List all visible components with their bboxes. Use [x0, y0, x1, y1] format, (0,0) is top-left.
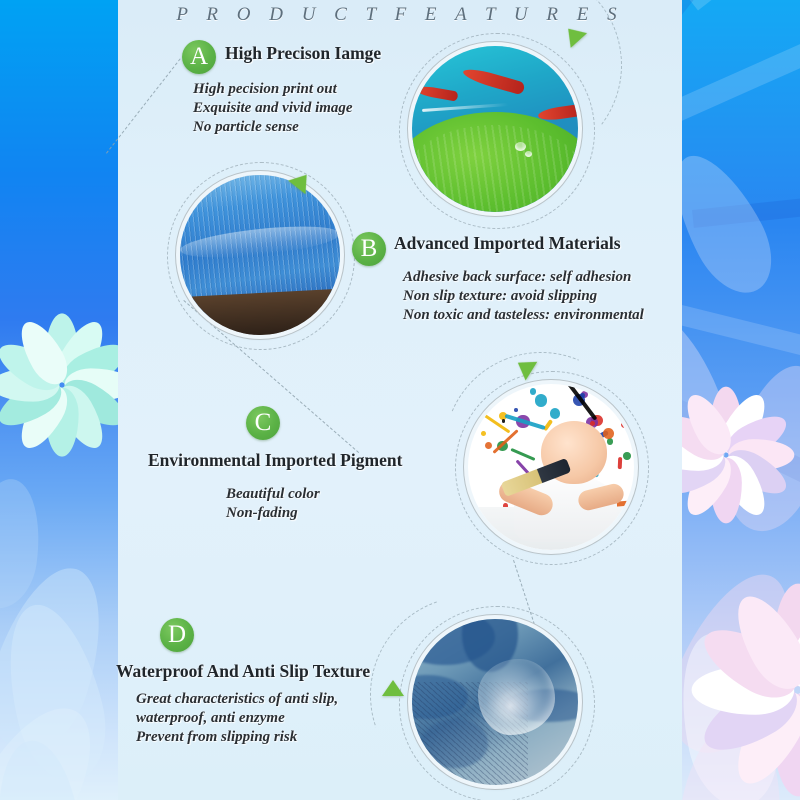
water-droplet-shape: [478, 659, 554, 735]
photo-water-fish-lilypad: [412, 46, 578, 212]
badge-d: D: [160, 618, 194, 652]
paint-splatter: [550, 408, 561, 419]
feature-d-lines: Great characteristics of anti slip, wate…: [136, 690, 338, 747]
paint-splatter: [607, 438, 614, 445]
badge-a: A: [182, 40, 216, 74]
feature-b-heading: Advanced Imported Materials: [394, 233, 621, 254]
left-decorative-border: [0, 0, 118, 800]
feature-a-lines: High pecision print out Exquisite and vi…: [193, 80, 353, 137]
decorative-ray: [682, 0, 800, 10]
paint-splatter: [514, 408, 518, 412]
feature-c-lines: Beautiful color Non-fading: [226, 485, 320, 523]
feature-b-lines: Adhesive back surface: self adhesion Non…: [403, 268, 644, 325]
paint-splatter: [530, 388, 536, 394]
paint-splatter: [502, 419, 505, 422]
decorative-ray: [682, 16, 800, 130]
feature-c-heading: Environmental Imported Pigment: [148, 450, 402, 471]
dashed-connector-line: [106, 58, 181, 153]
paint-splatter: [511, 448, 536, 461]
paint-splatter: [618, 457, 623, 469]
paint-splatter: [535, 394, 548, 407]
product-features-poster: P R O D U C T F E A T U R E S A High: [0, 0, 800, 800]
lilypad-shape: [412, 112, 578, 212]
paint-splatter: [485, 442, 492, 449]
main-content-panel: P R O D U C T F E A T U R E S A High: [118, 0, 682, 800]
feature-d-heading: Waterproof And Anti Slip Texture: [116, 661, 370, 682]
photo-waterproof-droplet: [412, 619, 578, 785]
fish-shape: [415, 84, 459, 101]
fish-shape: [461, 66, 525, 96]
photo-blue-ribbed-fabric: [180, 175, 340, 335]
photo-baby-painting: [468, 384, 634, 550]
feature-a-heading: High Precison Iamge: [225, 43, 381, 64]
paint-splatter: [481, 431, 486, 436]
right-decorative-border: [682, 0, 800, 800]
badge-b: B: [352, 232, 386, 266]
paint-splatter: [623, 452, 631, 460]
badge-c: C: [246, 406, 280, 440]
paint-splatter: [603, 428, 614, 439]
